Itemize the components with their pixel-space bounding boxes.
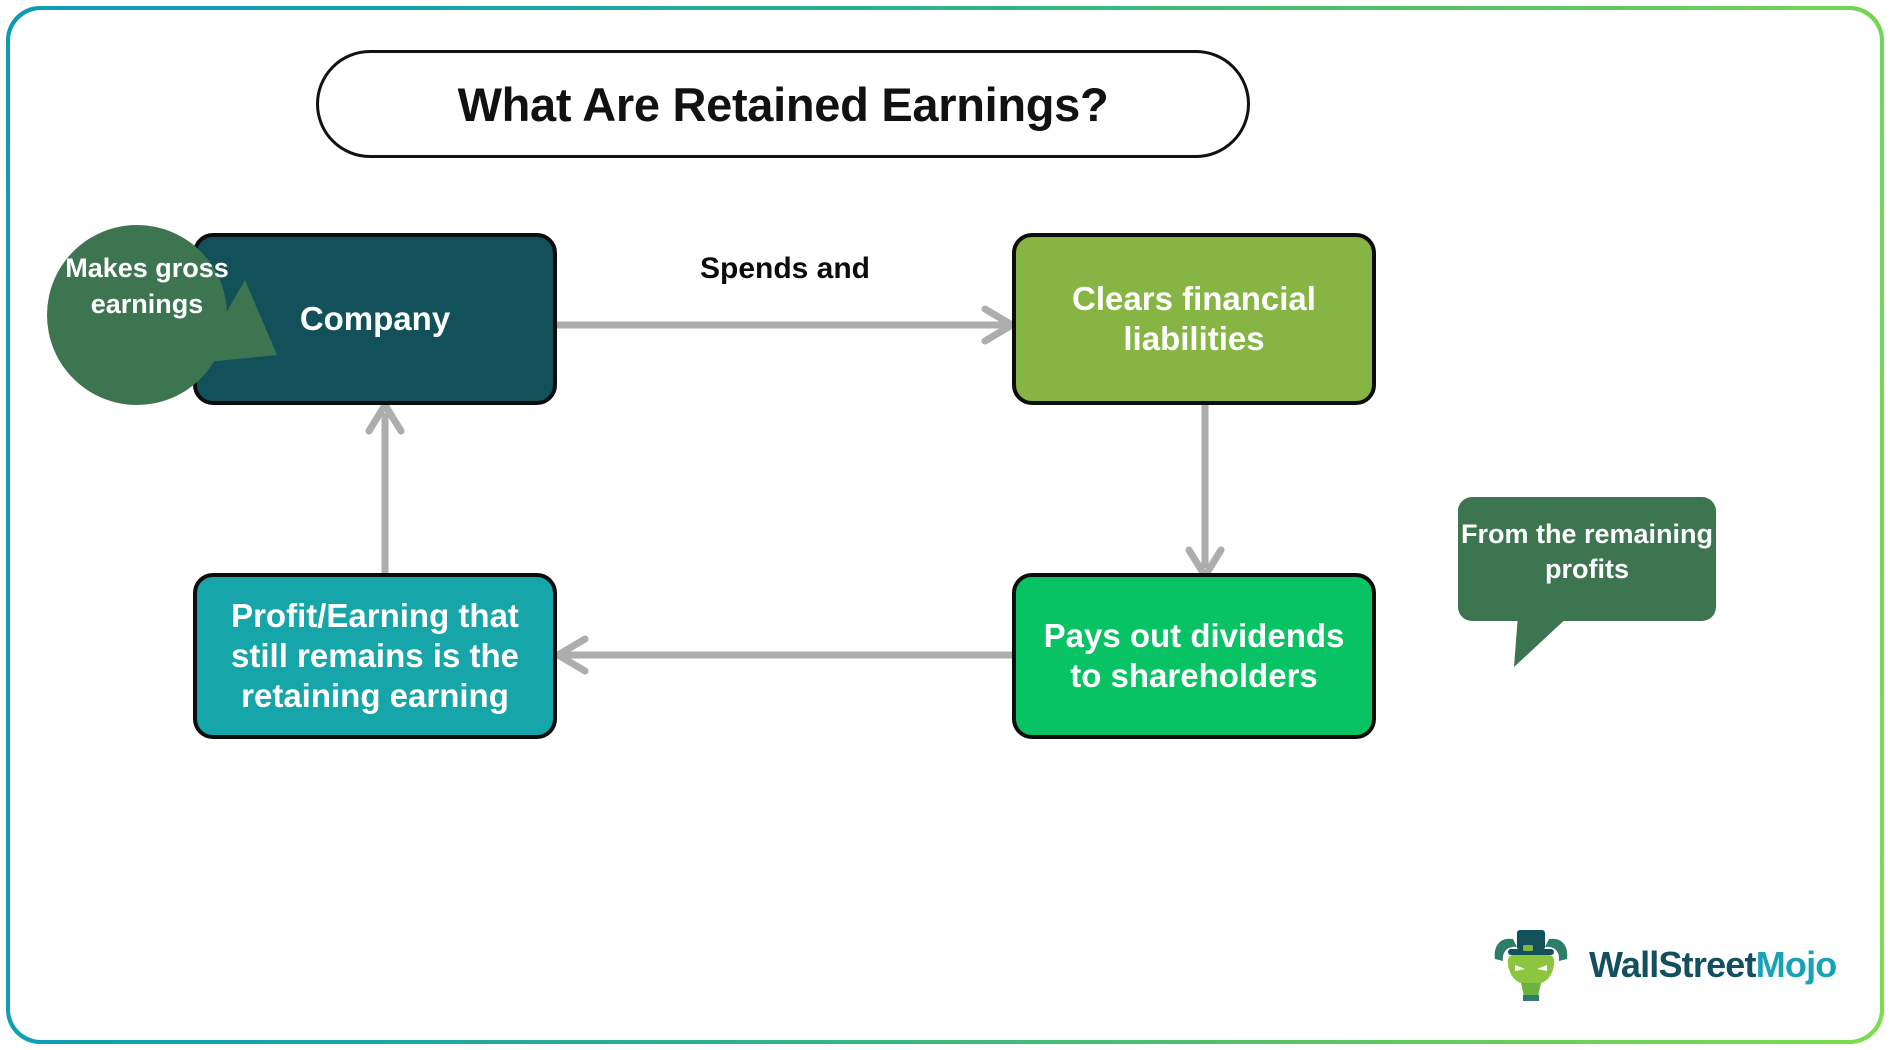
logo-word-mojo: Mojo bbox=[1756, 944, 1837, 985]
node-pays-label: Pays out dividends to shareholders bbox=[1034, 616, 1354, 697]
infographic-canvas: What Are Retained Earnings? Spends and C… bbox=[0, 0, 1890, 1050]
node-clears-label: Clears financial liabilities bbox=[1034, 279, 1354, 360]
node-profit-label: Profit/Earning that still remains is the… bbox=[215, 596, 535, 717]
page-title: What Are Retained Earnings? bbox=[458, 77, 1109, 132]
title-pill: What Are Retained Earnings? bbox=[316, 50, 1250, 158]
node-retained-earnings[interactable]: Profit/Earning that still remains is the… bbox=[193, 573, 557, 739]
node-pays-out-dividends[interactable]: Pays out dividends to shareholders bbox=[1012, 573, 1376, 739]
speech-bubble-from-remaining-profits: From the remaining profits bbox=[1458, 497, 1730, 667]
logo-word-wallstreet: WallStreet bbox=[1589, 944, 1756, 985]
speech-bubble-left-label: Makes gross earnings bbox=[57, 251, 237, 322]
logo-wordmark: WallStreetMojo bbox=[1589, 944, 1837, 986]
wallstreetmojo-logo[interactable]: WallStreetMojo bbox=[1487, 925, 1837, 1005]
node-company-label: Company bbox=[300, 299, 450, 339]
node-clears-financial-liabilities[interactable]: Clears financial liabilities bbox=[1012, 233, 1376, 405]
edge-label-spends-and: Spends and bbox=[640, 252, 930, 286]
speech-bubble-right-label: From the remaining profits bbox=[1458, 517, 1716, 587]
speech-bubble-makes-gross-earnings: Makes gross earnings bbox=[47, 225, 307, 407]
bull-with-tophat-icon bbox=[1487, 925, 1575, 1005]
